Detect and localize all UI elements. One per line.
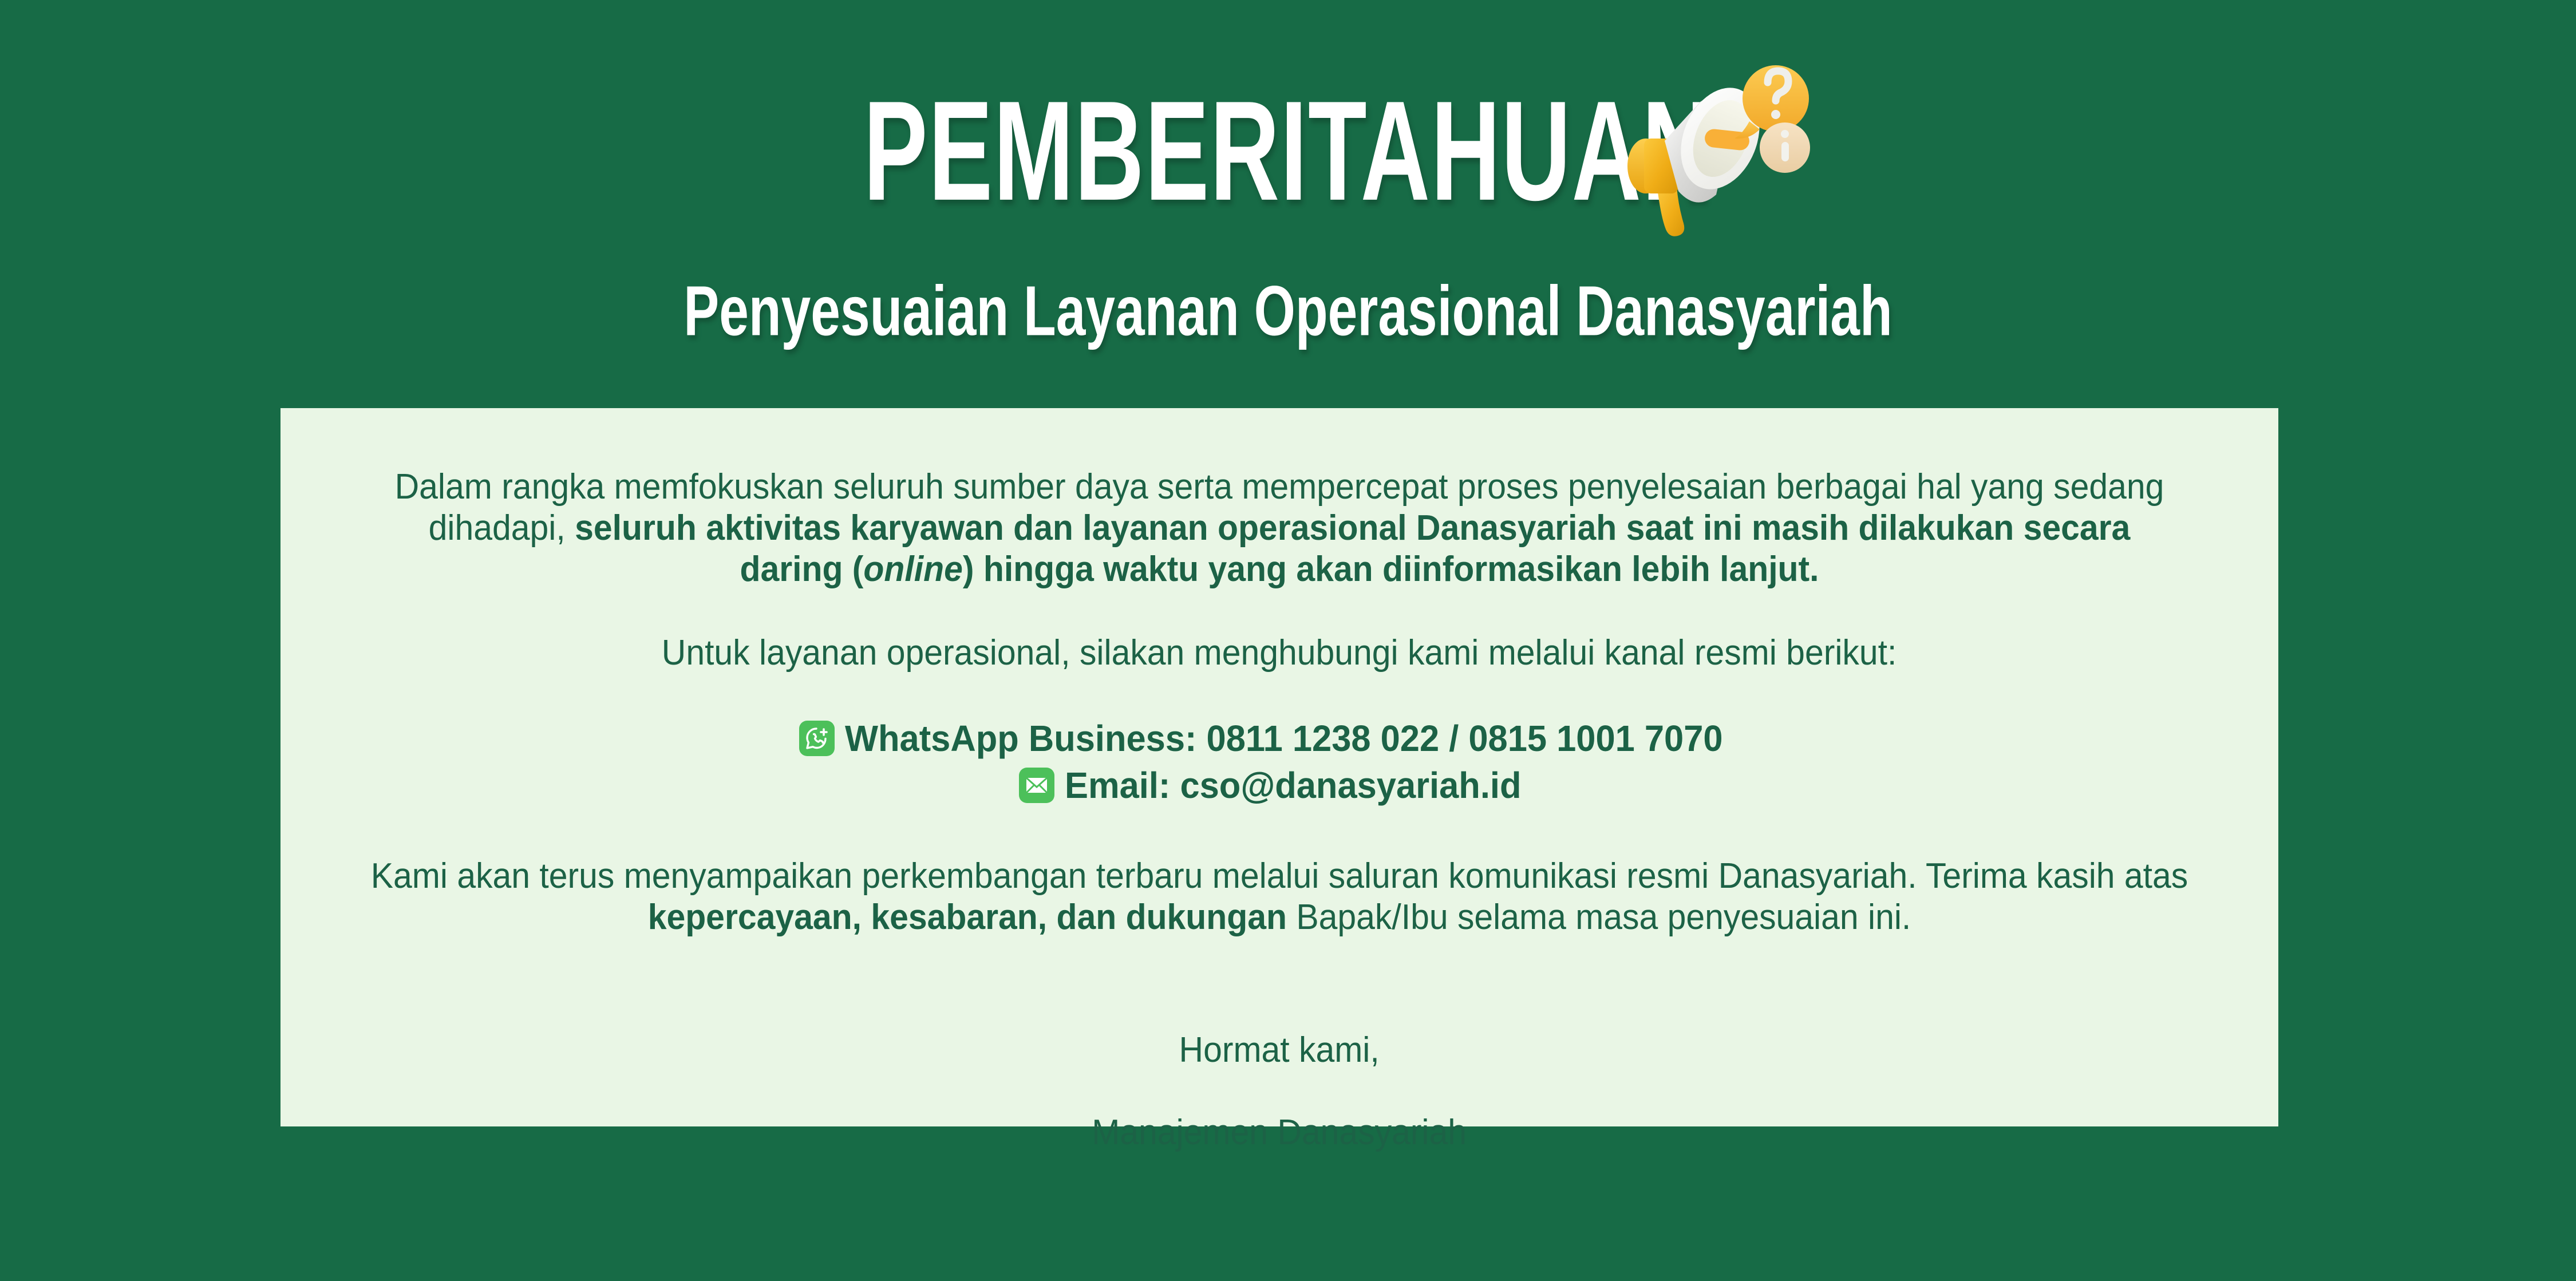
paragraph-closing-part2: Bapak/Ibu selama masa penyesuaian ini.	[1287, 898, 1911, 937]
paragraph-closing-bold: kepercayaan, kesabaran, dan dukungan	[648, 898, 1287, 937]
contact-line-email[interactable]: Email: cso@danasyariah.id	[1019, 764, 1540, 806]
paragraph-intro-italic-online: online	[863, 549, 962, 589]
notice-card-content: Dalam rangka memfokuskan seluruh sumber …	[280, 408, 2278, 1126]
contact-line-whatsapp[interactable]: WhatsApp Business: 0811 1238 022 / 0815 …	[799, 717, 1759, 760]
contact-channels: WhatsApp Business: 0811 1238 022 / 0815 …	[799, 717, 1759, 806]
paragraph-intro-bold2: ) hingga waktu yang akan diinformasikan …	[963, 549, 1819, 589]
signature-line-2: Manajemen Danasyariah	[1092, 1112, 1467, 1153]
email-envelope-icon	[1019, 768, 1054, 803]
signature-line-1: Hormat kami,	[1092, 1030, 1467, 1071]
paragraph-intro: Dalam rangka memfokuskan seluruh sumber …	[388, 466, 2171, 590]
notice-card: Dalam rangka memfokuskan seluruh sumber …	[280, 408, 2278, 1126]
whatsapp-icon	[799, 721, 835, 756]
announcement-poster: PEMBERITAHUAN	[0, 0, 2576, 1281]
page-subtitle: Penyesuaian Layanan Operasional Danasyar…	[180, 276, 2396, 346]
paragraph-contact-intro: Untuk layanan operasional, silakan mengh…	[662, 632, 1897, 674]
contact-whatsapp-label: WhatsApp Business: 0811 1238 022 / 0815 …	[845, 717, 1723, 760]
title-row: PEMBERITAHUAN	[0, 80, 2576, 200]
contact-email-label: Email: cso@danasyariah.id	[1065, 764, 1521, 806]
page-title: PEMBERITAHUAN	[863, 80, 1712, 222]
signature-block: Hormat kami, Manajemen Danasyariah	[1092, 989, 1467, 1195]
paragraph-closing-part1: Kami akan terus menyampaikan perkembanga…	[371, 856, 2188, 896]
paragraph-closing: Kami akan terus menyampaikan perkembanga…	[355, 856, 2204, 938]
poster-header: PEMBERITAHUAN	[0, 0, 2576, 401]
